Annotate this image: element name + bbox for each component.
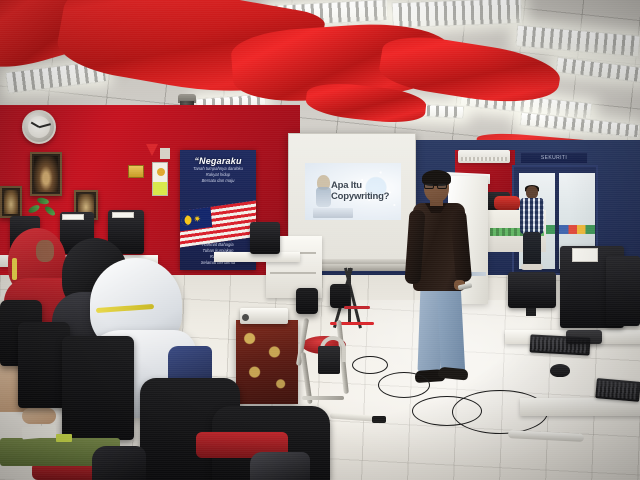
floor-cable <box>378 372 430 398</box>
projector-lens <box>242 314 249 321</box>
chair[interactable] <box>62 336 134 440</box>
display-item-red <box>494 196 520 210</box>
slide-title: Apa Itu Copywriting? <box>331 180 401 202</box>
chair[interactable] <box>330 284 350 308</box>
floor-cable <box>352 356 388 374</box>
lcd-monitor <box>250 222 280 254</box>
classroom-photo: “Negaraku Tanah tumpahnya darahku Rakyat… <box>0 0 640 480</box>
computer-desk <box>520 398 640 416</box>
lcd-monitor <box>566 330 602 344</box>
cabinet-seam <box>270 272 316 274</box>
monitor-label <box>572 248 598 262</box>
wall-poster <box>128 165 144 178</box>
student-face <box>36 240 54 262</box>
keyboard[interactable] <box>595 378 640 402</box>
ceiling-light <box>392 0 523 28</box>
malaysian-flag-icon: ✷ <box>180 200 256 248</box>
lcd-monitor <box>508 272 556 308</box>
slide-laptop-graphic <box>313 208 353 218</box>
banner-line: Bersatu dan maju <box>180 178 256 184</box>
mouse[interactable] <box>550 364 570 377</box>
chair[interactable] <box>296 288 318 314</box>
student-foreground <box>250 452 310 480</box>
door-sign: SEKURITI <box>520 152 588 164</box>
student-foreground <box>92 446 146 480</box>
monitor-label <box>62 214 84 220</box>
monitor-label <box>112 212 134 218</box>
equipment-box <box>318 346 340 374</box>
chair-base-red <box>344 306 370 309</box>
wall-clock <box>22 110 56 144</box>
wall-sign <box>160 148 170 159</box>
presenter-leg <box>437 285 466 374</box>
slide-title-line2: Copywriting? <box>331 191 389 202</box>
air-conditioner <box>458 150 510 163</box>
banner-title: “Negaraku <box>180 156 256 166</box>
standing-man <box>519 186 545 272</box>
slide-title-line1: Apa Itu <box>331 180 362 191</box>
lanyard <box>12 258 17 280</box>
sticky-note <box>56 434 72 442</box>
door-sign-text: SEKURITI <box>521 153 587 164</box>
monitor-stand <box>526 308 536 316</box>
framed-painting <box>0 186 22 218</box>
presentation-slide: Apa Itu Copywriting? <box>305 163 401 220</box>
cable-connector <box>372 416 386 423</box>
projector <box>240 308 288 324</box>
eyeglasses-icon <box>424 183 448 189</box>
projector-table <box>236 320 298 404</box>
pennant-icon <box>146 144 158 156</box>
student-hand <box>22 408 56 424</box>
framed-painting <box>30 152 62 196</box>
wall-poster <box>152 162 168 196</box>
presenter <box>405 172 483 400</box>
lcd-monitor <box>606 256 640 326</box>
